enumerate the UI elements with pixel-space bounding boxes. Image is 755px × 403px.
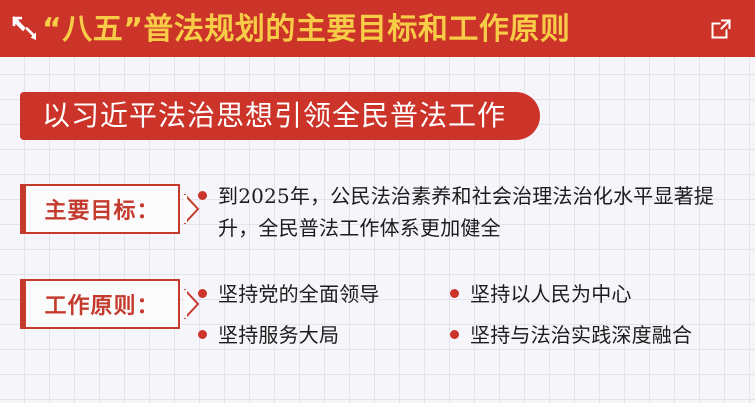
goal-item-text: 到2025年，公民法治素养和社会治理法治化水平显著提升，全民普法工作体系更加健全 [218,180,750,244]
callout-main-goals: 主要目标： [20,184,180,234]
list-item: 坚持与法治实践深度融合 [450,319,750,351]
principle-item-text: 坚持与法治实践深度融合 [470,319,692,351]
list-item: 坚持以人民为中心 [450,278,750,310]
principle-item-text: 坚持党的全面领导 [218,278,380,310]
page-root: “八五”普法规划的主要目标和工作原则 以习近平法治思想引领全民普法工作 主要目标… [0,0,755,403]
header-bar: “八五”普法规划的主要目标和工作原则 [0,0,755,57]
list-item: 坚持党的全面领导 [198,278,450,310]
external-link-icon[interactable] [709,17,733,41]
callout-work-principles-label: 工作原则： [44,288,159,320]
list-item: 到2025年，公民法治素养和社会治理法治化水平显著提升，全民普法工作体系更加健全 [198,180,750,244]
main-goals-content: 到2025年，公民法治素养和社会治理法治化水平显著提升，全民普法工作体系更加健全 [198,180,750,244]
expand-arrows-icon[interactable] [10,14,40,44]
principle-item-text: 坚持以人民为中心 [470,278,632,310]
banner-text: 以习近平法治思想引领全民普法工作 [42,102,506,130]
bullet-dot-icon [198,330,207,339]
callout-work-principles: 工作原则： [20,279,180,329]
bullet-dot-icon [198,289,207,298]
work-principles-content: 坚持党的全面领导 坚持以人民为中心 坚持服务大局 坚持与法治实践深度融合 [198,278,750,351]
principles-grid: 坚持党的全面领导 坚持以人民为中心 坚持服务大局 坚持与法治实践深度融合 [198,278,750,351]
banner-guiding-thought: 以习近平法治思想引领全民普法工作 [20,92,540,140]
bullet-dot-icon [450,289,459,298]
principle-item-text: 坚持服务大局 [218,319,339,351]
page-title: “八五”普法规划的主要目标和工作原则 [42,13,709,45]
callout-main-goals-label: 主要目标： [44,193,159,225]
list-item: 坚持服务大局 [198,319,450,351]
bullet-dot-icon [450,330,459,339]
bullet-dot-icon [198,191,207,200]
